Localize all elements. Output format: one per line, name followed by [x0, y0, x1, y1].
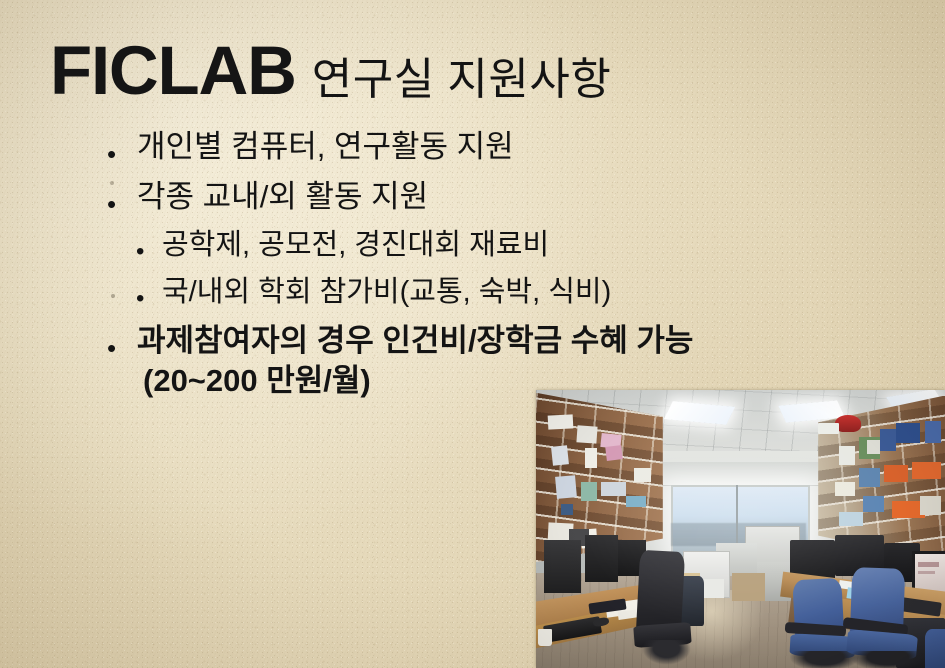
photo-chair-base: [851, 651, 925, 668]
shelf-item: [920, 496, 940, 515]
shelf-item: [925, 421, 941, 443]
shelf-item: [880, 429, 896, 451]
bullet-item-5-label: 과제참여자의 경우 인건비/장학금 수혜 가능: [137, 325, 693, 356]
photo-monitor-content: [918, 562, 938, 566]
shelf-item: [634, 468, 650, 482]
presentation-slide: FICLAB 연구실 지원사항 • 개인별 컴퓨터, 연구활동 지원 • 각종 …: [0, 0, 945, 668]
shelf-item: [884, 465, 909, 482]
photo-chair-base: [642, 640, 691, 665]
shelf-item: [818, 423, 838, 434]
bullet-item-3-label: 공학제, 공모전, 경진대회 재료비: [162, 231, 549, 260]
shelf-item: [585, 448, 597, 467]
shelf-item: [839, 446, 855, 465]
shelf-item: [556, 475, 578, 499]
bullet-item-4: • 국/내외 학회 참가비(교통, 숙박, 식비): [0, 278, 945, 311]
bullet-dot-icon: •: [136, 278, 162, 311]
title-subtitle: 연구실 지원사항: [312, 58, 612, 102]
photo-cardboard-box: [732, 573, 765, 601]
shelf-item: [601, 482, 626, 496]
shelf-item: [548, 414, 573, 429]
shelf-item: [867, 440, 879, 454]
shelf-item: [551, 445, 569, 466]
bullet-list: • 개인별 컴퓨터, 연구활동 지원 • 각종 교내/외 활동 지원 • 공학제…: [0, 131, 945, 396]
photo-blue-chair: [925, 629, 945, 668]
shelf-item: [912, 462, 941, 479]
bullet-dot-icon: •: [136, 231, 162, 264]
photo-window-blind: [659, 462, 823, 485]
shelf-item: [626, 496, 646, 507]
photo-cup: [538, 629, 552, 646]
photo-monitor-content: [918, 571, 934, 574]
bullet-item-2: • 각종 교내/외 활동 지원: [0, 181, 945, 217]
bullet-dot-icon: •: [107, 325, 137, 361]
shelf-item: [863, 496, 883, 513]
photo-pc-tower: [585, 535, 618, 582]
shelf-item: [896, 423, 921, 442]
shelf-item: [839, 512, 864, 526]
bullet-item-1: • 개인별 컴퓨터, 연구활동 지원: [0, 131, 945, 167]
bullet-item-3: • 공학제, 공모전, 경진대회 재료비: [0, 231, 945, 264]
shelf-item: [605, 445, 623, 461]
shelf-item: [576, 425, 598, 443]
bullet-dot-icon: •: [107, 181, 137, 217]
shelf-item: [561, 504, 573, 515]
shelf-item: [835, 482, 855, 496]
bullet-dot-icon: •: [107, 131, 137, 167]
photo-white-box: [704, 579, 724, 598]
bullet-item-2-label: 각종 교내/외 활동 지원: [137, 181, 428, 212]
bullet-item-5: • 과제참여자의 경우 인건비/장학금 수혜 가능: [0, 325, 945, 361]
photo-pc-tower: [544, 540, 581, 593]
photo-chair-base: [790, 651, 860, 668]
shelf-item: [581, 482, 597, 501]
slide-title: FICLAB 연구실 지원사항: [50, 36, 611, 105]
lab-room-photo: [536, 390, 945, 668]
title-brand: FICLAB: [50, 36, 296, 105]
bullet-item-4-label: 국/내외 학회 참가비(교통, 숙박, 식비): [162, 278, 611, 307]
bullet-item-1-label: 개인별 컴퓨터, 연구활동 지원: [137, 131, 514, 162]
shelf-item: [859, 468, 879, 487]
